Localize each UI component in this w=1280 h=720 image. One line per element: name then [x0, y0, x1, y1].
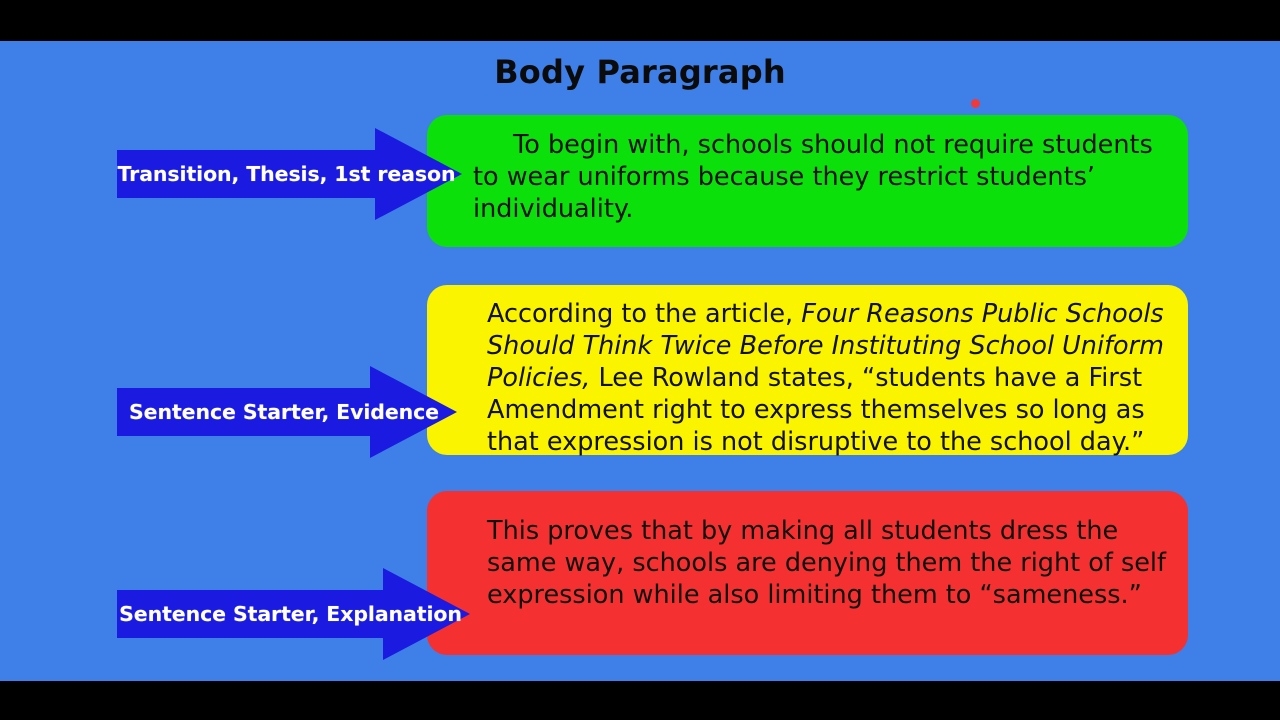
- arrow-3-label: Sentence Starter, Explanation: [117, 568, 470, 660]
- arrow-sentence-starter-evidence[interactable]: Sentence Starter, Evidence: [117, 366, 457, 458]
- arrow-transition-thesis-reason[interactable]: Transition, Thesis, 1st reason: [117, 128, 462, 220]
- red-box-text: This proves that by making all students …: [487, 516, 1166, 612]
- letterbox-bar-top: [0, 0, 1280, 41]
- yellow-box-text: According to the article, Four Reasons P…: [487, 299, 1166, 458]
- red-dot-marker-icon: [971, 99, 980, 108]
- red-box: This proves that by making all students …: [427, 491, 1188, 655]
- arrow-sentence-starter-explanation[interactable]: Sentence Starter, Explanation: [117, 568, 470, 660]
- arrow-1-label: Transition, Thesis, 1st reason: [117, 128, 462, 220]
- green-box: To begin with, schools should not requir…: [427, 115, 1188, 247]
- green-box-text: To begin with, schools should not requir…: [473, 130, 1166, 226]
- letterbox-bar-bottom: [0, 681, 1280, 720]
- slide-canvas: Body Paragraph To begin with, schools sh…: [0, 41, 1280, 681]
- presentation-slide-frame: Body Paragraph To begin with, schools sh…: [0, 0, 1280, 720]
- yellow-box: According to the article, Four Reasons P…: [427, 285, 1188, 455]
- page-title: Body Paragraph: [0, 53, 1280, 91]
- arrow-2-label: Sentence Starter, Evidence: [117, 366, 457, 458]
- yellow-text-run-1: According to the article,: [487, 299, 801, 329]
